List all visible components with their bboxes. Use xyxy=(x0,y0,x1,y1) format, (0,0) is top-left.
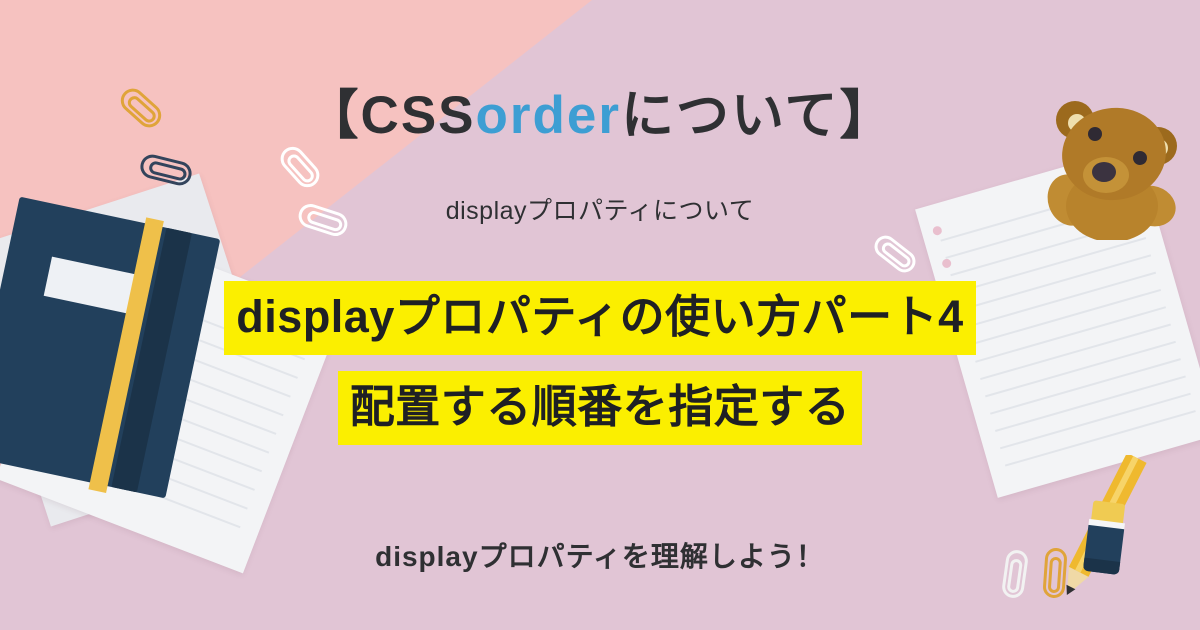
highlight-row-1: displayプロパティの使い方パート4 xyxy=(0,281,1200,355)
title-bracket-open: 【 xyxy=(306,86,361,145)
text-content: 【CSSorderについて】 displayプロパティについて displayプ… xyxy=(0,0,1200,630)
subtitle: displayプロパティについて xyxy=(0,191,1200,227)
thumbnail-canvas: 【CSSorderについて】 displayプロパティについて displayプ… xyxy=(0,0,1200,630)
highlight-line-2: 配置する順番を指定する xyxy=(338,371,863,445)
highlight-line-1: displayプロパティの使い方パート4 xyxy=(224,281,975,355)
title-accent-order: order xyxy=(476,86,621,145)
page-title: 【CSSorderについて】 xyxy=(0,86,1200,147)
title-suffix: について xyxy=(621,86,839,145)
title-prefix: CSS xyxy=(361,86,476,145)
title-bracket-close: 】 xyxy=(839,86,894,145)
highlight-row-2: 配置する順番を指定する xyxy=(0,371,1200,445)
footer-tagline: displayプロパティを理解しよう！ xyxy=(0,535,1200,575)
